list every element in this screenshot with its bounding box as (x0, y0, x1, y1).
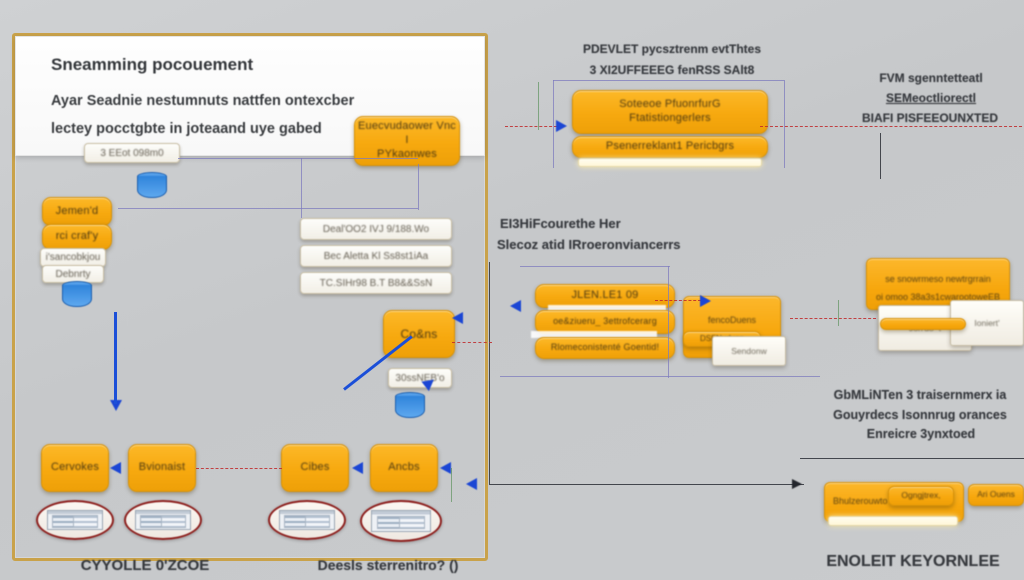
database-mid-icon (395, 392, 425, 426)
section-label-bottom-left: CYYOLLE 0'ZCOE (45, 555, 245, 577)
left-mid-stack-line-3: Rlomeconistenté Goentid! (551, 342, 659, 353)
bracket-right (784, 80, 785, 168)
tooltip-chip[interactable]: 3 EEot 098m0 (84, 143, 180, 163)
center-stack-bottom[interactable]: Psenerreklant1 Pericbgrs (572, 136, 768, 158)
left-mid-stack-line-1: JLEN.LE1 09 (571, 289, 638, 303)
arrow-right-icon (792, 479, 802, 489)
tooltip-chip-label: 3 EEot 098m0 (100, 148, 163, 159)
bottom-right-glow-bar (828, 516, 958, 526)
flow-dashed-code (452, 342, 492, 343)
arrow-blue-left-icon (452, 312, 463, 324)
callout-far-right-line-3: BIAFI PISFEEOUNXTED (832, 110, 1024, 127)
funnel-sheet-2-label: Debnrty (55, 269, 90, 280)
flow-dashed-right (790, 318, 876, 319)
table-row[interactable]: Deal'OO2 IVJ 9/188.Wo (300, 218, 452, 240)
arrow-blue-left-process-icon-2 (352, 462, 363, 474)
flow-dashed-top-right (760, 126, 1022, 127)
connector-bottom-rail (489, 484, 804, 485)
process-node-cervokes[interactable]: Cervokes (41, 444, 109, 492)
callout-top-right-line-1: PDEVLET pycsztrenm evtThtes (562, 41, 782, 58)
callout-mid-right-line-1: GbMLiNTen 3 traisernmerx ia (820, 386, 1020, 404)
callout-mid-right-line-2: Gouyrdecs Isonnrug orances (820, 406, 1020, 424)
connector-purple-top (178, 158, 418, 159)
table-row-text: TC.SIHr98 B.T B8&&SsN (320, 278, 433, 289)
center-stack-line-2: Ftatistiongerlers (629, 112, 711, 126)
flow-dashed-process (196, 468, 282, 469)
screenshot-thumb-icon[interactable] (360, 500, 442, 542)
bottom-right-folder-tab-1: Bhulzerouwto (833, 496, 888, 508)
funnel-node-top-label: Jemen'd (56, 205, 99, 219)
callout-far-right-line-1: FVM sgenntetteatl (838, 70, 1024, 87)
process-node-ancbs[interactable]: Ancbs (370, 444, 438, 492)
flow-dashed-mid (655, 300, 701, 301)
connector-purple-baseline (500, 376, 820, 377)
section-label-bottom-right: ENOLEIT KEYORNLEE (808, 550, 1018, 573)
left-mid-stack-line-2: oe&ziueru_ 3ettrofcerarg (553, 316, 657, 327)
process-node-cervokes-label: Cervokes (51, 461, 99, 475)
arrow-blue-right-icon (556, 120, 567, 132)
funnel-node-second-label: rci craf'y (56, 230, 99, 244)
mid-window-card-label: Sendonw (731, 346, 766, 356)
code-node-sublabel-sheet[interactable]: 30ssNEB'o (388, 368, 452, 388)
connector-spine (489, 262, 490, 484)
funnel-sheet-1-label: i'sancobkjou (46, 252, 101, 263)
table-row[interactable]: TC.SIHr98 B.T B8&&SsN (300, 272, 452, 294)
table-row-text: Bec Aletta Kl Ss8st1iAa (324, 251, 429, 262)
process-node-bvionaist[interactable]: Bvionaist (128, 444, 196, 492)
funnel-node-second[interactable]: rci craf'y (42, 224, 112, 250)
callout-far-right-line-2: SEMeoctliorectl (838, 90, 1024, 107)
bottom-right-folder-tab3[interactable]: Ari Ouens (968, 484, 1024, 506)
bottom-right-folder-tab-2: Ogngjtrex, (901, 490, 940, 501)
arrow-blue-left-rail-icon (466, 478, 477, 490)
screenshot-thumb-icon[interactable] (268, 500, 346, 540)
left-mid-stack-row-3[interactable]: Rlomeconistenté Goentid! (535, 337, 675, 359)
callout-mid-right-line-3: Enreicre 3ynxtoed (828, 425, 1014, 443)
tick-green-right (838, 300, 839, 326)
flow-dashed-top-left (505, 126, 557, 127)
panel-right-card-line-2: PYkaonwes (377, 148, 437, 162)
center-stack-glow-bar (578, 158, 762, 167)
connector-purple-table (301, 158, 302, 218)
right-stack-card-right-label: Ioniert' (974, 318, 999, 328)
bracket-drop (880, 133, 881, 179)
mid-window-card[interactable]: Sendonw (712, 336, 786, 366)
tick-green-process (451, 468, 452, 502)
connector-purple-mid (118, 208, 418, 209)
center-stack-line-3: Psenerreklant1 Pericbgrs (606, 140, 734, 154)
right-stack-top-line-1: se snowrmeso newtrgrrain (885, 274, 991, 286)
connector-purple-vert-mid (668, 266, 669, 378)
page-title: Sneamming pocouement (51, 55, 253, 75)
connector-purple-up (418, 164, 419, 210)
callout-mid-left-line-2: Slecoz atid IRroeronviancerrs (497, 236, 737, 255)
callout-top-right-line-2: 3 XI2UFFEEEG fenRSS SAlt8 (562, 62, 782, 79)
right-stack-bar (880, 318, 966, 330)
arrow-down-shaft (114, 312, 117, 404)
database-bottom-icon (62, 281, 92, 315)
code-node-sublabel: 30ssNEB'o (395, 373, 444, 384)
table-row[interactable]: Bec Aletta Kl Ss8st1iAa (300, 245, 452, 267)
arrow-blue-left-process-icon-3 (440, 462, 451, 474)
bracket-top (553, 80, 784, 81)
panel-text-line-1: Ayar Seadnie nestumnuts nattfen ontexcbe… (51, 93, 354, 109)
panel-right-card-line-1: Euecvudaower Vnc I (355, 120, 459, 148)
screenshot-thumb-icon[interactable] (124, 500, 202, 540)
connector-purple-horiz-mid (520, 266, 670, 267)
tick-green-left (538, 82, 539, 130)
bottom-right-folder-tab-3: Ari Ouens (977, 489, 1015, 500)
arrow-blue-left-icon-2 (510, 300, 521, 312)
process-node-cibes[interactable]: Cibes (281, 444, 349, 492)
process-node-ancbs-label: Ancbs (388, 461, 420, 475)
screenshot-thumb-icon[interactable] (36, 500, 114, 540)
panel-text-line-2: lectey pocctgbte in joteaand uye gabed (51, 121, 322, 137)
arrow-blue-left-process-icon (110, 462, 121, 474)
arrow-blue-mid-icon (700, 295, 711, 307)
center-stack-line-1: Soteeoe PfuonrfurG (619, 98, 720, 112)
funnel-node-top[interactable]: Jemen'd (42, 197, 112, 226)
center-stack-top[interactable]: Soteeoe PfuonrfurG Ftatistiongerlers (572, 90, 768, 134)
process-node-bvionaist-label: Bvionaist (139, 461, 185, 475)
mid-folder-label: fencoDuens (708, 315, 756, 327)
connector-bottom-rail-right (800, 458, 1024, 459)
table-row-text: Deal'OO2 IVJ 9/188.Wo (323, 224, 429, 235)
process-node-cibes-label: Cibes (300, 461, 329, 475)
bottom-right-folder-tab2[interactable]: Ogngjtrex, (888, 486, 954, 506)
diagram-canvas: Sneamming pocouement Ayar Seadnie nestum… (0, 0, 1024, 580)
database-top-icon (137, 172, 167, 206)
callout-mid-left-line-1: EI3HiFcourethe Her (500, 215, 720, 234)
bracket-left (553, 80, 554, 168)
section-label-bottom-mid: Deesls sterrenitro? () (278, 555, 498, 575)
